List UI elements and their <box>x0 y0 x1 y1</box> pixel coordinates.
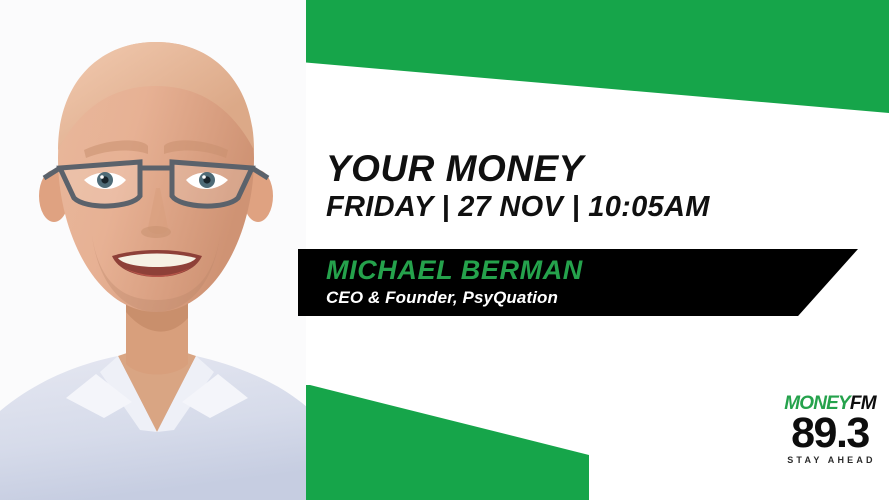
guest-name-banner: MICHAEL BERMAN CEO & Founder, PsyQuation <box>298 249 858 316</box>
station-logo: MONEYFM 89.3 STAY AHEAD <box>778 394 882 465</box>
logo-frequency: 89.3 <box>778 414 882 454</box>
page-title: YOUR MONEY <box>326 150 846 188</box>
show-title-block: YOUR MONEY FRIDAY | 27 NOV | 10:05AM <box>326 150 846 223</box>
show-schedule: FRIDAY | 27 NOV | 10:05AM <box>326 192 846 222</box>
guest-portrait-panel <box>0 0 306 500</box>
promo-graphic: YOUR MONEY FRIDAY | 27 NOV | 10:05AM MIC… <box>0 0 889 500</box>
guest-name: MICHAEL BERMAN <box>326 255 583 286</box>
guest-role: CEO & Founder, PsyQuation <box>326 288 558 308</box>
logo-tagline: STAY AHEAD <box>778 456 882 465</box>
portrait-photo <box>0 0 306 500</box>
